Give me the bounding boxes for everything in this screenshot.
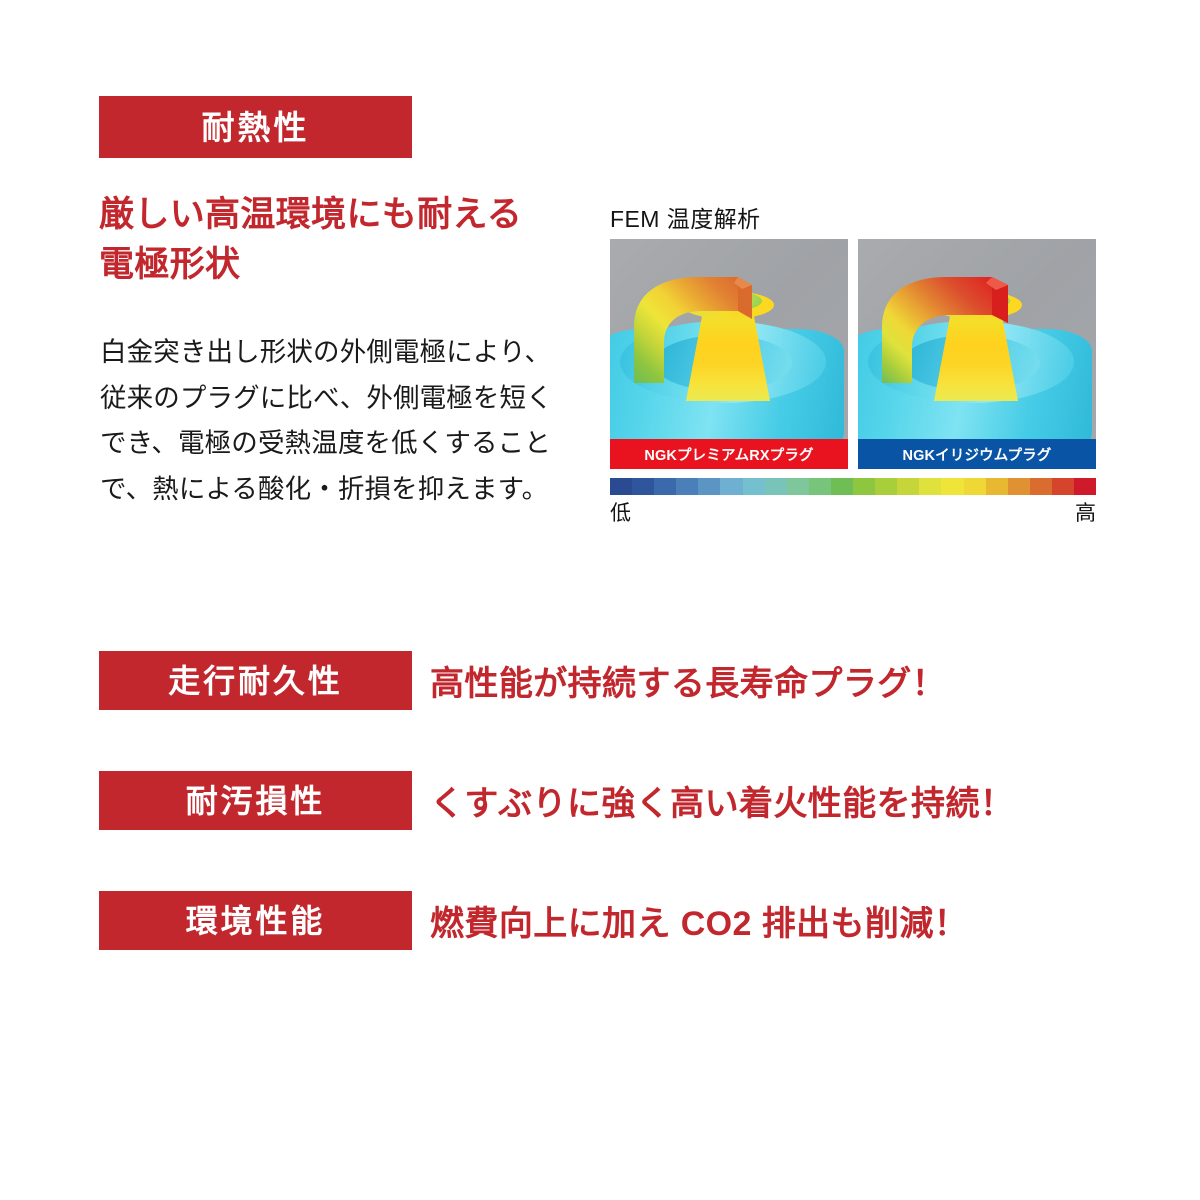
- feature-badge-label: 走行耐久性: [168, 665, 342, 697]
- colorbar-band-13: [897, 478, 919, 495]
- fem-panel-premium-rx: NGKプレミアムRXプラグ: [610, 239, 848, 469]
- feature-description: くすぶりに強く高い着火性能を持続！: [430, 769, 1014, 831]
- colorbar-band-1: [632, 478, 654, 495]
- heat-resistance-heading: 厳しい高温環境にも耐える 電極形状: [99, 190, 579, 289]
- feature-description: 高性能が持続する長寿命プラグ！: [430, 649, 946, 711]
- ground-electrode-heatmap-arm: [872, 271, 1020, 387]
- fem-temperature-colorbar: [610, 478, 1096, 495]
- fem-panel-caption-iridium: NGKイリジウムプラグ: [858, 439, 1096, 469]
- fem-analysis-figure: FEM 温度解析: [610, 200, 1096, 527]
- fem-panel-caption-premium-rx: NGKプレミアムRXプラグ: [610, 439, 848, 469]
- colorbar-band-17: [986, 478, 1008, 495]
- colorbar-band-19: [1030, 478, 1052, 495]
- fem-panel-iridium: NGKイリジウムプラグ: [858, 239, 1096, 469]
- colorbar-band-16: [964, 478, 986, 495]
- feature-row: 環境性能 燃費向上に加え CO2 排出も削減！: [0, 891, 1200, 1011]
- colorbar-low-label: 低: [610, 497, 631, 527]
- colorbar-band-5: [720, 478, 742, 495]
- heat-resistance-section: 耐熱性 厳しい高温環境にも耐える 電極形状 白金突き出し形状の外側電極により、 …: [0, 0, 1200, 600]
- feature-badge-fouling-resistance: 耐汚損性: [99, 771, 412, 830]
- feature-badge-environmental: 環境性能: [99, 891, 412, 950]
- colorbar-high-label: 高: [1075, 497, 1096, 527]
- heat-heading-line-2: 電極形状: [99, 240, 579, 290]
- heat-resistance-badge-label: 耐熱性: [202, 111, 310, 144]
- fem-analysis-title: FEM 温度解析: [610, 200, 1096, 228]
- body-line-4: で、熱による酸化・折損を抑えます。: [100, 467, 582, 513]
- colorbar-band-9: [809, 478, 831, 495]
- colorbar-band-3: [676, 478, 698, 495]
- colorbar-band-20: [1052, 478, 1074, 495]
- ground-electrode-heatmap-arm: [624, 271, 772, 387]
- feature-row: 走行耐久性 高性能が持続する長寿命プラグ！: [0, 651, 1200, 771]
- colorbar-band-7: [765, 478, 787, 495]
- feature-row-list: 走行耐久性 高性能が持続する長寿命プラグ！ 耐汚損性 くすぶりに強く高い着火性能…: [0, 651, 1200, 1011]
- colorbar-band-10: [831, 478, 853, 495]
- colorbar-band-4: [698, 478, 720, 495]
- colorbar-band-6: [743, 478, 765, 495]
- fem-panel-group: NGKプレミアムRXプラグ: [610, 239, 1096, 469]
- feature-badge-label: 環境性能: [186, 905, 326, 937]
- fem-colorbar-labels: 低 高: [610, 497, 1096, 527]
- colorbar-band-18: [1008, 478, 1030, 495]
- body-line-3: でき、電極の受熱温度を低くすること: [100, 421, 582, 467]
- heat-resistance-body-text: 白金突き出し形状の外側電極により、 従来のプラグに比べ、外側電極を短く でき、電…: [100, 330, 582, 512]
- colorbar-band-8: [787, 478, 809, 495]
- body-line-2: 従来のプラグに比べ、外側電極を短く: [100, 376, 582, 422]
- colorbar-band-12: [875, 478, 897, 495]
- colorbar-band-2: [654, 478, 676, 495]
- heat-resistance-badge: 耐熱性: [99, 96, 412, 158]
- feature-row: 耐汚損性 くすぶりに強く高い着火性能を持続！: [0, 771, 1200, 891]
- heat-heading-line-1: 厳しい高温環境にも耐える: [99, 195, 522, 234]
- feature-description: 燃費向上に加え CO2 排出も削減！: [430, 889, 968, 951]
- colorbar-band-11: [853, 478, 875, 495]
- colorbar-band-21: [1074, 478, 1096, 495]
- feature-badge-label: 耐汚損性: [186, 785, 326, 817]
- colorbar-band-0: [610, 478, 632, 495]
- colorbar-band-15: [941, 478, 963, 495]
- colorbar-band-14: [919, 478, 941, 495]
- body-line-1: 白金突き出し形状の外側電極により、: [100, 330, 582, 376]
- feature-badge-durability: 走行耐久性: [99, 651, 412, 710]
